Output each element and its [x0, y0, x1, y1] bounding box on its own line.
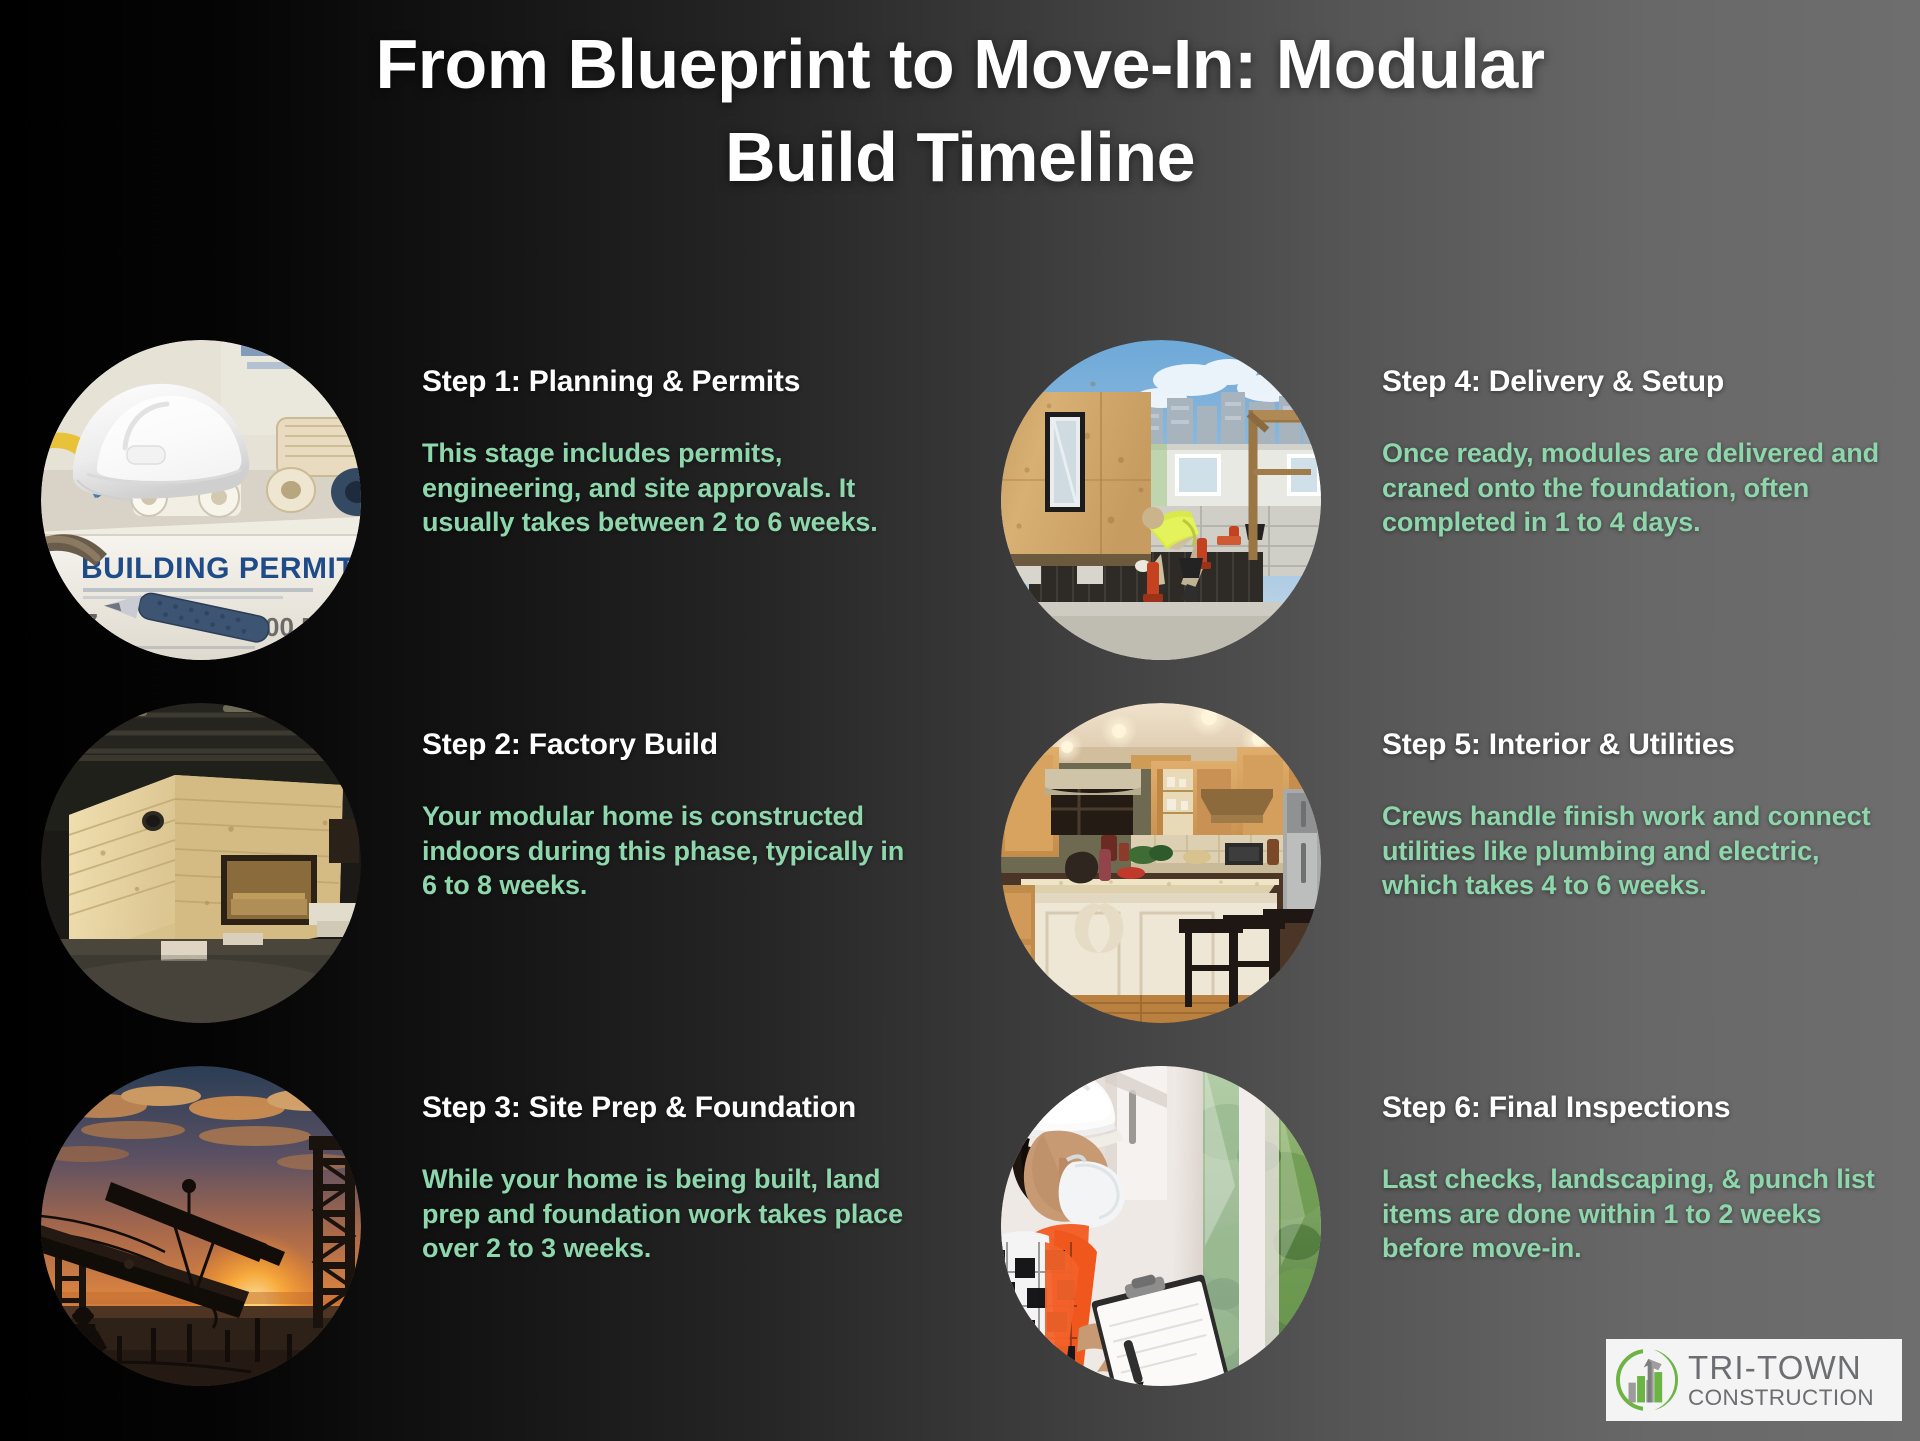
step-6-text: Step 6: Final Inspections Last checks, l…	[1326, 1056, 1886, 1266]
steps-grid: BUILDING PERMIT 07 00 M	[0, 330, 1920, 1390]
step-2-thumb-wrap	[36, 693, 366, 1023]
step-2-body: Your modular home is constructed indoors…	[422, 799, 926, 903]
step-6-body: Last checks, landscaping, & punch list i…	[1382, 1162, 1886, 1266]
step-4-thumb-wrap	[996, 330, 1326, 660]
step-2-heading: Step 2: Factory Build	[422, 727, 926, 763]
infographic-canvas: From Blueprint to Move-In: Modular Build…	[0, 0, 1920, 1441]
step-2-text: Step 2: Factory Build Your modular home …	[366, 693, 926, 903]
step-3-image-site-prep-sunset	[41, 1066, 361, 1386]
step-4-heading: Step 4: Delivery & Setup	[1382, 364, 1886, 400]
step-1-image-building-permit: BUILDING PERMIT 07 00 M	[41, 340, 361, 660]
step-4-text: Step 4: Delivery & Setup Once ready, mod…	[1326, 330, 1886, 540]
step-card-5: Step 5: Interior & Utilities Crews handl…	[960, 693, 1920, 1056]
brand-logo-wordmark: TRI-TOWN CONSTRUCTION	[1688, 1351, 1874, 1410]
step-6-image-final-inspection	[1001, 1066, 1321, 1386]
step-4-body: Once ready, modules are delivered and cr…	[1382, 436, 1886, 540]
tri-town-buildings-circle-icon	[1614, 1347, 1680, 1413]
step-1-body: This stage includes permits, engineering…	[422, 436, 926, 540]
step-5-text: Step 5: Interior & Utilities Crews handl…	[1326, 693, 1886, 903]
brand-name-secondary: CONSTRUCTION	[1688, 1387, 1874, 1410]
step-card-4: Step 4: Delivery & Setup Once ready, mod…	[960, 330, 1920, 693]
step-1-text: Step 1: Planning & Permits This stage in…	[366, 330, 926, 540]
step-3-text: Step 3: Site Prep & Foundation While you…	[366, 1056, 926, 1266]
step-card-1: BUILDING PERMIT 07 00 M	[0, 330, 960, 693]
step-1-heading: Step 1: Planning & Permits	[422, 364, 926, 400]
step-3-heading: Step 3: Site Prep & Foundation	[422, 1090, 926, 1126]
svg-text:00 M: 00 M	[265, 612, 323, 642]
step-card-2: Step 2: Factory Build Your modular home …	[0, 693, 960, 1056]
step-4-image-module-delivery	[1001, 340, 1321, 660]
svg-text:07: 07	[69, 608, 98, 638]
step-5-body: Crews handle finish work and connect uti…	[1382, 799, 1886, 903]
brand-name-primary: TRI-TOWN	[1688, 1351, 1874, 1384]
page-title-line-2: Build Timeline	[150, 111, 1770, 204]
step-3-body: While your home is being built, land pre…	[422, 1162, 926, 1266]
step-card-3: Step 3: Site Prep & Foundation While you…	[0, 1056, 960, 1390]
step-3-thumb-wrap	[36, 1056, 366, 1386]
step-6-heading: Step 6: Final Inspections	[1382, 1090, 1886, 1126]
step-2-image-factory-build	[41, 703, 361, 1023]
svg-text:BUILDING PERMIT: BUILDING PERMIT	[81, 552, 355, 585]
step-6-thumb-wrap	[996, 1056, 1326, 1386]
step-5-heading: Step 5: Interior & Utilities	[1382, 727, 1886, 763]
page-title-line-1: From Blueprint to Move-In: Modular	[150, 18, 1770, 111]
page-title: From Blueprint to Move-In: Modular Build…	[0, 18, 1920, 204]
step-5-thumb-wrap	[996, 693, 1326, 1023]
step-1-thumb-wrap: BUILDING PERMIT 07 00 M	[36, 330, 366, 660]
brand-logo[interactable]: TRI-TOWN CONSTRUCTION	[1606, 1339, 1902, 1421]
step-5-image-kitchen-interior	[1001, 703, 1321, 1023]
